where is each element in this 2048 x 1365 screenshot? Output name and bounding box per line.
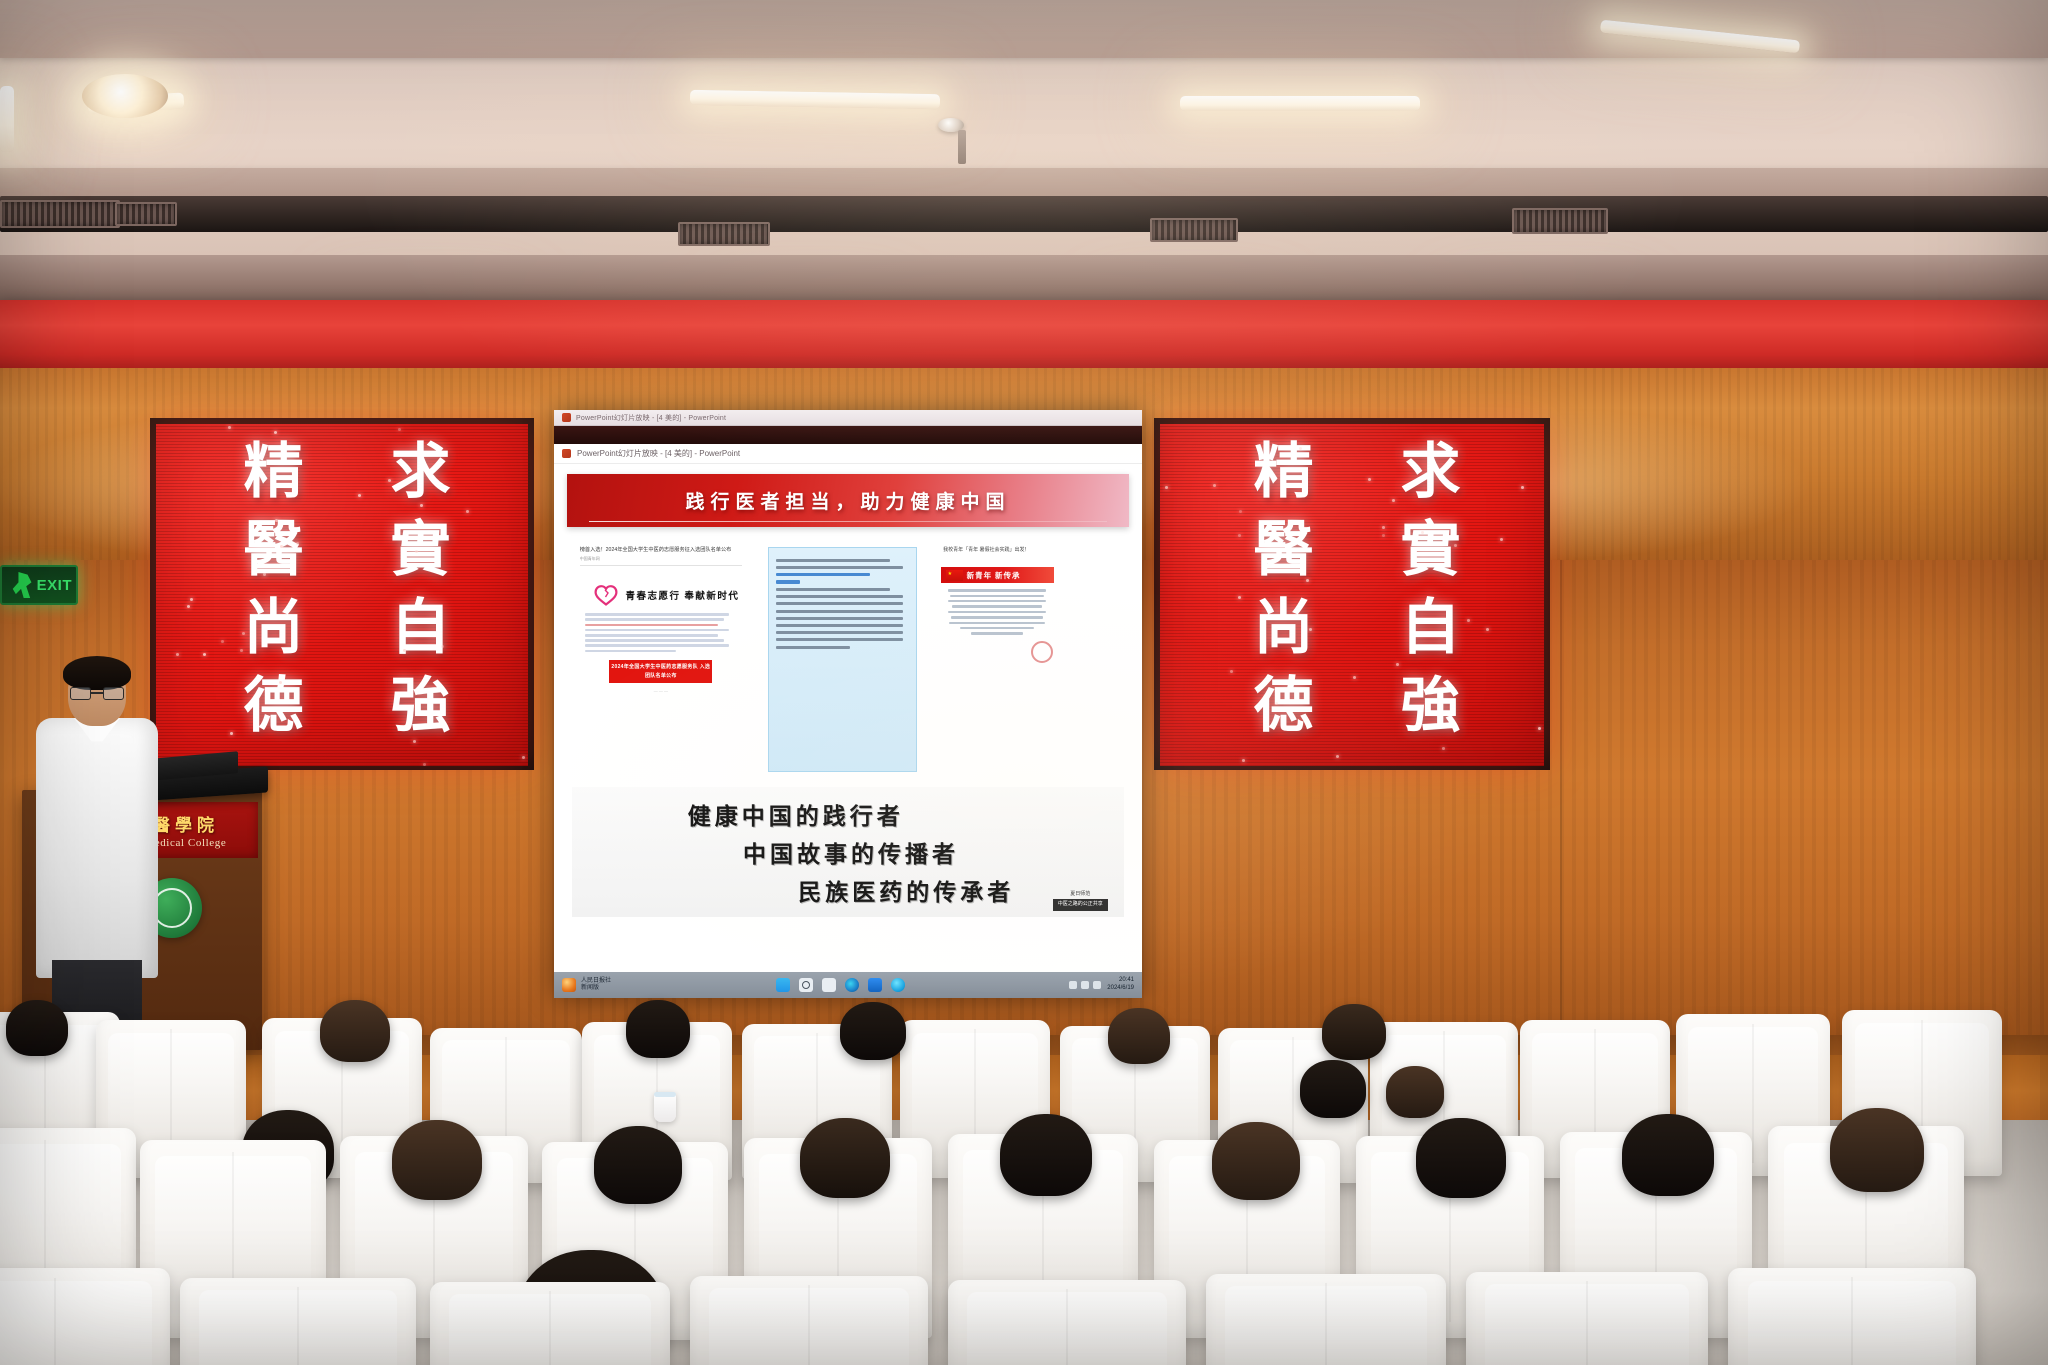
signature-top-text: 夏日师范 xyxy=(1053,890,1108,899)
ceiling-beam xyxy=(0,168,2048,198)
slide-banner-title: 践行医者担当，助力健康中国 xyxy=(685,487,1010,514)
ceiling-vent-grille xyxy=(678,222,770,246)
panel2-card xyxy=(768,547,917,771)
text-line xyxy=(952,605,1042,607)
speaker-person xyxy=(30,660,160,1060)
panel3-flag-banner: ★ 新青年 新传承 xyxy=(941,567,1054,583)
led-left-column-text: 精醫尚德 xyxy=(1235,439,1322,751)
text-line xyxy=(585,634,718,637)
panel-news-flag[interactable]: 我校青年「青年 暑假社会实践」出发！ ★ 新青年 新传承 xyxy=(933,540,1061,779)
led-sparkle xyxy=(522,756,525,759)
ceiling-vent-grille xyxy=(0,200,120,228)
ceiling-vent-grille xyxy=(1512,208,1608,234)
text-line xyxy=(948,600,1047,602)
led-sparkle xyxy=(423,763,426,766)
led-sparkle xyxy=(1454,544,1457,547)
text-line xyxy=(949,622,1046,624)
panel3-flag-text: 新青年 新传承 xyxy=(967,570,1021,581)
clock-time: 20:41 xyxy=(1119,977,1134,983)
ceiling-light-tube xyxy=(1180,96,1420,111)
text-line xyxy=(585,650,676,653)
led-sparkle xyxy=(1392,499,1395,502)
led-sparkle xyxy=(263,573,266,576)
chair xyxy=(0,1268,170,1365)
led-sparkle xyxy=(1521,486,1524,489)
running-man-icon xyxy=(11,572,37,598)
text-line xyxy=(971,632,1022,634)
led-sparkle xyxy=(176,653,179,656)
taskbar-icon-group[interactable] xyxy=(776,978,905,992)
signature-bar-text: 中医之路的公正共享 xyxy=(1053,899,1108,911)
audience-head xyxy=(1300,1060,1366,1118)
tray-icons[interactable] xyxy=(1069,981,1101,989)
window-titlebar-inner[interactable]: PowerPoint幻灯片放映 - [4 美的] - PowerPoint xyxy=(554,444,1142,464)
text-line xyxy=(585,618,724,621)
led-sparkle xyxy=(441,645,444,648)
led-sparkle xyxy=(420,504,423,507)
led-sparkle xyxy=(1238,534,1241,537)
calligraphy-line-1: 健康中国的践行者 xyxy=(688,797,1125,831)
led-left-column-text: 精醫尚德 xyxy=(225,439,312,751)
panel1-logo-text: 青春志愿行 奉献新时代 xyxy=(625,588,739,602)
led-right-column-text: 求實自強 xyxy=(372,439,459,751)
led-sparkle xyxy=(1230,670,1233,673)
audience-head xyxy=(840,1002,906,1060)
led-sparkle xyxy=(275,519,278,522)
led-banner-right: 精醫尚德 求實自強 xyxy=(1160,424,1544,766)
windows-taskbar[interactable]: 人民日报社 新闻版 20:41 202 xyxy=(554,972,1142,998)
wall-seam xyxy=(1560,560,1562,1040)
text-line xyxy=(776,595,902,598)
text-line xyxy=(950,595,1045,597)
led-sparkle xyxy=(230,732,233,735)
chair xyxy=(430,1282,670,1365)
audience-head xyxy=(800,1118,890,1198)
screen-dark-band xyxy=(554,426,1142,444)
text-line xyxy=(776,602,902,605)
led-banner-left: 精醫尚德 求實自強 xyxy=(156,424,528,766)
ceiling-light-tube xyxy=(0,86,14,152)
led-sparkle xyxy=(413,740,416,743)
ceiling-light-tube xyxy=(690,90,940,109)
panel-news-volunteer[interactable]: 榜首入选！2024年全国大学生中医药志愿服务征入选团队名单公布 中国青年网 青春… xyxy=(569,540,753,779)
led-sparkle xyxy=(1275,702,1278,705)
taskbar-app-button[interactable]: 人民日报社 新闻版 xyxy=(562,978,611,993)
task-view-icon[interactable] xyxy=(822,978,836,992)
battery-icon[interactable] xyxy=(1093,981,1101,989)
text-line xyxy=(776,646,849,649)
speaker-hair xyxy=(63,656,131,690)
edge-icon[interactable] xyxy=(845,978,859,992)
audience-head xyxy=(1000,1114,1092,1196)
led-sparkle xyxy=(1396,663,1399,666)
ceiling-vent-grille xyxy=(115,202,177,226)
volume-icon[interactable] xyxy=(1081,981,1089,989)
led-sparkle xyxy=(388,479,391,482)
chair xyxy=(1728,1268,1976,1365)
glasses-lens-left xyxy=(70,687,91,700)
glasses-lens-right xyxy=(103,687,124,700)
red-seal-icon xyxy=(1031,641,1053,663)
led-right-column-text: 求實自強 xyxy=(1382,439,1469,751)
speaker-body xyxy=(36,718,158,978)
text-line xyxy=(585,629,729,632)
audience-head xyxy=(1108,1008,1170,1064)
text-line xyxy=(948,611,1047,613)
paper-cup xyxy=(654,1092,676,1122)
text-line xyxy=(585,644,729,647)
chair xyxy=(1206,1274,1446,1365)
audience-head xyxy=(1212,1122,1300,1200)
text-line xyxy=(776,610,902,613)
slide-calligraphy: 健康中国的践行者 中国故事的传播者 民族医药的传承者 夏日师范 中医之路的公正共… xyxy=(572,787,1125,917)
led-sparkle xyxy=(240,649,243,652)
chair xyxy=(948,1280,1186,1365)
chair xyxy=(1466,1272,1708,1365)
text-line-highlight xyxy=(585,624,718,627)
led-sparkle xyxy=(1382,534,1385,537)
glasses-bridge xyxy=(91,692,103,694)
led-sparkle xyxy=(415,550,418,553)
slide-panels-row: 榜首入选！2024年全国大学生中医药志愿服务征入选团队名单公布 中国青年网 青春… xyxy=(569,540,1128,779)
ceiling xyxy=(0,0,2048,268)
panel1-body xyxy=(569,613,753,652)
slide-banner: 践行医者担当，助力健康中国 xyxy=(567,474,1129,527)
audience-head xyxy=(594,1126,682,1204)
text-line xyxy=(951,616,1044,618)
chair xyxy=(690,1276,928,1365)
taskbar-clock[interactable]: 20:41 2024/6/19 xyxy=(1107,977,1134,993)
audience-head xyxy=(1322,1004,1386,1060)
audience-head xyxy=(1830,1108,1924,1192)
led-sparkle xyxy=(398,428,401,431)
text-line xyxy=(960,627,1034,629)
panel-article-blue[interactable] xyxy=(762,540,924,779)
ceiling-vent-grille xyxy=(1150,218,1238,242)
audience-head xyxy=(392,1120,482,1200)
taskbar-system-tray[interactable]: 20:41 2024/6/19 xyxy=(1069,977,1134,993)
text-line xyxy=(585,613,729,616)
window-titlebar-outer[interactable]: PowerPoint幻灯片放映 - [4 美的] - PowerPoint xyxy=(554,410,1142,426)
led-sparkle xyxy=(1336,755,1339,758)
calligraphy-box: 健康中国的践行者 中国故事的传播者 民族医药的传承者 夏日师范 中医之路的公正共… xyxy=(572,787,1125,917)
taskbar-app-label-line2: 新闻版 xyxy=(581,985,599,991)
text-line xyxy=(776,559,889,562)
text-line xyxy=(776,631,902,634)
powerpoint-icon xyxy=(562,449,571,458)
audience-head xyxy=(626,1000,690,1058)
text-line xyxy=(585,639,724,642)
taskbar-app-label-line1: 人民日报社 xyxy=(581,978,611,984)
text-line xyxy=(776,638,902,641)
powerpoint-icon xyxy=(562,413,571,422)
panel1-stamp: 2024年全国大学生中医药志愿服务队 入选团队名单公布 xyxy=(609,660,712,683)
audience-head xyxy=(1386,1066,1444,1118)
clock-date: 2024/6/19 xyxy=(1107,985,1134,991)
search-icon[interactable] xyxy=(799,978,813,992)
windows-start-icon[interactable] xyxy=(776,978,790,992)
projector-mount xyxy=(958,130,966,164)
window-title-inner: PowerPoint幻灯片放映 - [4 美的] - PowerPoint xyxy=(577,448,740,459)
heart-icon xyxy=(594,584,618,606)
conference-hall-photo: EXIT 精醫尚德 求實自強 精醫尚德 求實自強 PowerPoint幻灯片放映… xyxy=(0,0,2048,1365)
exit-sign-label: EXIT xyxy=(37,577,72,594)
exit-sign: EXIT xyxy=(0,565,78,605)
glasses-icon xyxy=(70,687,124,700)
panel3-headline: 我校青年「青年 暑假社会实践」出发！ xyxy=(943,546,1051,553)
text-line xyxy=(776,624,902,627)
chair xyxy=(180,1278,416,1365)
browser-icon[interactable] xyxy=(891,978,905,992)
panel1-logo: 青春志愿行 奉献新时代 xyxy=(594,584,753,606)
panel1-subhead: 中国青年网 xyxy=(580,556,742,562)
led-sparkle xyxy=(187,605,190,608)
text-line-highlight xyxy=(776,573,869,576)
store-icon[interactable] xyxy=(868,978,882,992)
calligraphy-signature: 夏日师范 中医之路的公正共享 xyxy=(1053,890,1108,911)
window-title-outer: PowerPoint幻灯片放映 - [4 美的] - PowerPoint xyxy=(576,413,726,423)
text-line xyxy=(948,589,1047,591)
panel1-stamp-footer: — — — xyxy=(569,688,753,693)
wifi-icon[interactable] xyxy=(1069,981,1077,989)
led-sparkle xyxy=(203,653,206,656)
text-line xyxy=(776,588,889,591)
text-line xyxy=(776,617,902,620)
ceiling-duct xyxy=(0,196,2048,232)
text-line-highlight xyxy=(776,580,800,583)
panel1-headline: 榜首入选！2024年全国大学生中医药志愿服务征入选团队名单公布 xyxy=(580,546,742,554)
presentation-slide[interactable]: 践行医者担当，助力健康中国 榜首入选！2024年全国大学生中医药志愿服务征入选团… xyxy=(554,464,1142,972)
led-sparkle xyxy=(358,494,361,497)
calligraphy-line-2: 中国故事的传播者 xyxy=(743,835,1124,869)
led-sparkle xyxy=(1238,596,1241,599)
app-icon xyxy=(562,978,576,992)
taskbar-app-label: 人民日报社 新闻版 xyxy=(581,978,611,993)
ceiling-slab xyxy=(0,0,2048,58)
audience-head xyxy=(6,1000,68,1056)
wall-red-accent-strip xyxy=(0,300,2048,372)
projection-screen: PowerPoint幻灯片放映 - [4 美的] - PowerPoint Po… xyxy=(554,410,1142,998)
audience-head xyxy=(320,1000,390,1062)
led-sparkle xyxy=(466,510,469,513)
led-sparkle xyxy=(1353,676,1356,679)
audience-head xyxy=(1416,1118,1506,1198)
china-flag-icon: ★ xyxy=(946,570,963,581)
led-sparkle xyxy=(190,598,193,601)
ceiling-spotlight xyxy=(82,74,168,118)
text-line xyxy=(776,566,902,569)
divider xyxy=(580,565,742,566)
led-sparkle xyxy=(1239,510,1242,513)
audience-head xyxy=(1622,1114,1714,1196)
